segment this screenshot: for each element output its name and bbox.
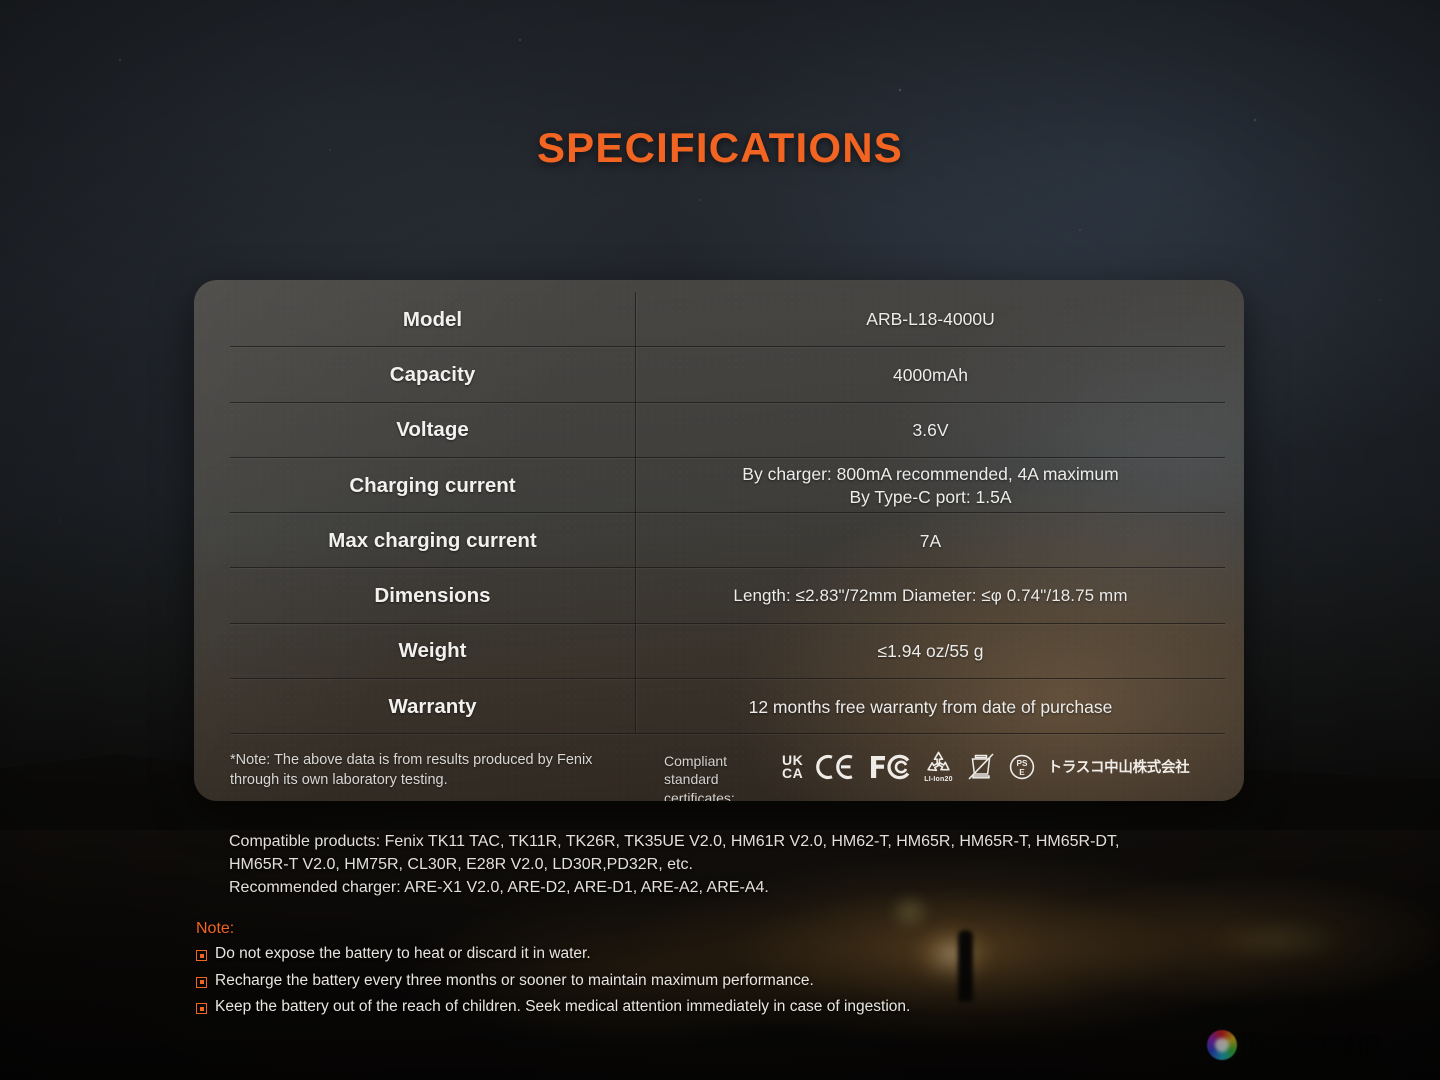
spec-label: Voltage — [230, 403, 635, 458]
compatible-products-line2: HM65R-T V2.0, HM75R, CL30R, E28R V2.0, L… — [229, 853, 1239, 876]
spec-value-line: By charger: 800mA recommended, 4A maximu… — [742, 463, 1118, 485]
weee-icon — [966, 752, 996, 782]
table-row: Charging current By charger: 800mA recom… — [230, 458, 1231, 513]
spec-value-line: Length: ≤2.83"/72mm Diameter: ≤φ 0.74"/1… — [733, 585, 1127, 607]
table-row: Max charging current 7A — [230, 513, 1231, 568]
spec-value: 12 months free warranty from date of pur… — [636, 679, 1231, 734]
spec-label: Charging current — [230, 458, 635, 513]
table-row: Dimensions Length: ≤2.83"/72mm Diameter:… — [230, 568, 1231, 623]
specifications-table: Model ARB-L18-4000U Capacity 4000mAh Vol… — [230, 292, 1231, 734]
spec-value: Length: ≤2.83"/72mm Diameter: ≤φ 0.74"/1… — [636, 568, 1231, 623]
trusco-nakayama-label: トラスコ中山株式会社 — [1048, 756, 1190, 777]
notes-block: Note: Do not expose the battery to heat … — [196, 920, 1296, 1025]
square-bullet-icon — [196, 977, 207, 988]
spec-label: Weight — [230, 624, 635, 679]
ukca-icon: UKCA — [782, 754, 803, 780]
note-text: Recharge the battery every three months … — [215, 972, 814, 991]
table-row: Model ARB-L18-4000U — [230, 292, 1231, 347]
panel-footer: *Note: The above data is from results pr… — [230, 750, 1231, 801]
ce-icon — [816, 754, 856, 780]
spec-value: ≤1.94 oz/55 g — [636, 624, 1231, 679]
spec-value: 4000mAh — [636, 347, 1231, 402]
spec-label: Capacity — [230, 347, 635, 402]
lab-test-note: *Note: The above data is from results pr… — [230, 750, 635, 790]
kronium-logo-icon — [1207, 1030, 1237, 1060]
spec-value: 3.6V — [636, 403, 1231, 458]
spec-value-line: ≤1.94 oz/55 g — [878, 640, 984, 662]
spec-value: 7A — [636, 513, 1231, 568]
spec-label: Dimensions — [230, 568, 635, 623]
spec-value-line: 7A — [920, 530, 941, 552]
compatibility-block: Compatible products: Fenix TK11 TAC, TK1… — [229, 830, 1239, 900]
list-item: Do not expose the battery to heat or dis… — [196, 945, 1296, 964]
watermark-text: Kronium.hr — [1245, 1031, 1376, 1060]
table-row: Capacity 4000mAh — [230, 347, 1231, 402]
list-item: Recharge the battery every three months … — [196, 972, 1296, 991]
note-text: Keep the battery out of the reach of chi… — [215, 998, 910, 1017]
square-bullet-icon — [196, 950, 207, 961]
compatible-products-line1: Compatible products: Fenix TK11 TAC, TK1… — [229, 830, 1239, 853]
compliance-section: Compliant standard certificates: UKCA — [635, 750, 1231, 801]
spec-value: By charger: 800mA recommended, 4A maximu… — [636, 458, 1231, 513]
fc-icon — [869, 754, 911, 780]
table-row: Warranty 12 months free warranty from da… — [230, 679, 1231, 734]
recycle-icon: LI-Ion20 — [924, 750, 952, 783]
spec-label: Model — [230, 292, 635, 347]
note-text: Do not expose the battery to heat or dis… — [215, 945, 591, 964]
recycle-label: LI-Ion20 — [924, 776, 952, 783]
spec-value-line: ARB-L18-4000U — [866, 308, 994, 330]
table-row: Weight ≤1.94 oz/55 g — [230, 624, 1231, 679]
certificate-marks: UKCA — [782, 750, 1189, 783]
svg-text:PS: PS — [1016, 759, 1027, 768]
notes-heading: Note: — [196, 920, 1296, 938]
spec-value-line: 4000mAh — [893, 364, 968, 386]
spec-value-line: By Type-C port: 1.5A — [849, 486, 1011, 508]
list-item: Keep the battery out of the reach of chi… — [196, 998, 1296, 1017]
spec-value-line: 12 months free warranty from date of pur… — [749, 696, 1113, 718]
table-row: Voltage 3.6V — [230, 403, 1231, 458]
spec-value-line: 3.6V — [913, 419, 949, 441]
recommended-charger-line: Recommended charger: ARE-X1 V2.0, ARE-D2… — [229, 876, 1239, 899]
svg-text:E: E — [1019, 768, 1025, 777]
spec-label: Warranty — [230, 679, 635, 734]
specifications-panel: Model ARB-L18-4000U Capacity 4000mAh Vol… — [194, 280, 1244, 801]
watermark: Kronium.hr — [1207, 1030, 1376, 1060]
pse-icon: PS E — [1009, 754, 1035, 780]
spec-label: Max charging current — [230, 513, 635, 568]
square-bullet-icon — [196, 1003, 207, 1014]
spec-value: ARB-L18-4000U — [636, 292, 1231, 347]
compliance-label: Compliant standard certificates: — [664, 750, 782, 801]
page-title: SPECIFICATIONS — [0, 124, 1440, 172]
